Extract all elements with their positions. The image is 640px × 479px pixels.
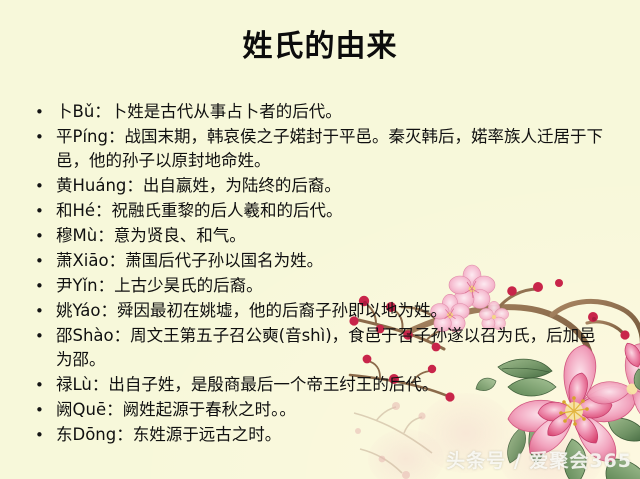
- list-item-text: 穆Mù：意为贤良、和气。: [56, 224, 610, 248]
- bullet-dot-icon: •: [30, 174, 56, 198]
- list-item-xiao: • 萧Xiāo：萧国后代子孙以国名为姓。: [30, 249, 610, 273]
- list-item-text: 姚Yáo：舜因最初在姚墟，他的后裔子孙即以地为姓。: [56, 299, 610, 323]
- bullet-dot-icon: •: [30, 324, 56, 348]
- list-item-text: 东Dōng：东姓源于远古之时。: [56, 423, 610, 447]
- list-item-text: 卜Bǔ：卜姓是古代从事占卜者的后代。: [56, 100, 610, 124]
- list-item-huang: • 黄Huáng：出自嬴姓，为陆终的后裔。: [30, 174, 610, 198]
- list-item-text: 和Hé：祝融氏重黎的后人羲和的后代。: [56, 199, 610, 223]
- bullet-dot-icon: •: [30, 423, 56, 447]
- bullet-list: • 卜Bǔ：卜姓是古代从事占卜者的后代。 • 平Píng：战国末期，韩哀侯之子婼…: [30, 100, 610, 448]
- bullet-dot-icon: •: [30, 274, 56, 298]
- list-item-shao: • 邵Shào：周文王第五子召公奭(音shì)，食邑于召子孙遂以召为氏，后加邑为…: [30, 324, 610, 372]
- bullet-dot-icon: •: [30, 199, 56, 223]
- list-item-text: 萧Xiāo：萧国后代子孙以国名为姓。: [56, 249, 610, 273]
- list-item-yao: • 姚Yáo：舜因最初在姚墟，他的后裔子孙即以地为姓。: [30, 299, 610, 323]
- list-item-he: • 和Hé：祝融氏重黎的后人羲和的后代。: [30, 199, 610, 223]
- list-item-text: 尹Yǐn：上古少昊氏的后裔。: [56, 274, 610, 298]
- bullet-dot-icon: •: [30, 299, 56, 323]
- bullet-dot-icon: •: [30, 125, 56, 149]
- bullet-dot-icon: •: [30, 100, 56, 124]
- list-item-ping: • 平Píng：战国末期，韩哀侯之子婼封于平邑。秦灭韩后，婼率族人迁居于下邑，他…: [30, 125, 610, 173]
- peony-bud: [621, 340, 640, 390]
- watermark: 头条号 / 爱聚会365: [446, 446, 632, 473]
- title-block: 姓氏的由来: [0, 28, 640, 66]
- list-item-text: 邵Shào：周文王第五子召公奭(音shì)，食邑于召子孙遂以召为氏，后加邑为邵。: [56, 324, 610, 372]
- list-item-lu: • 禄Lù：出自子姓，是殷商最后一个帝王纣王的后代。: [30, 373, 610, 397]
- slide-canvas: 姓氏的由来 • 卜Bǔ：卜姓是古代从事占卜者的后代。 • 平Píng：战国末期，…: [0, 0, 640, 479]
- page-title: 姓氏的由来: [243, 28, 398, 66]
- bullet-dot-icon: •: [30, 398, 56, 422]
- list-item-mu: • 穆Mù：意为贤良、和气。: [30, 224, 610, 248]
- bullet-dot-icon: •: [30, 373, 56, 397]
- list-item-que: • 阙Quē：阙姓起源于春秋之时。。: [30, 398, 610, 422]
- list-item-text: 禄Lù：出自子姓，是殷商最后一个帝王纣王的后代。: [56, 373, 610, 397]
- bullet-dot-icon: •: [30, 224, 56, 248]
- bullet-dot-icon: •: [30, 249, 56, 273]
- list-item-yin: • 尹Yǐn：上古少昊氏的后裔。: [30, 274, 610, 298]
- list-item-bu: • 卜Bǔ：卜姓是古代从事占卜者的后代。: [30, 100, 610, 124]
- list-item-text: 阙Quē：阙姓起源于春秋之时。。: [56, 398, 610, 422]
- list-item-text: 黄Huáng：出自嬴姓，为陆终的后裔。: [56, 174, 610, 198]
- list-item-dong: • 东Dōng：东姓源于远古之时。: [30, 423, 610, 447]
- list-item-text: 平Píng：战国末期，韩哀侯之子婼封于平邑。秦灭韩后，婼率族人迁居于下邑，他的孙…: [56, 125, 610, 173]
